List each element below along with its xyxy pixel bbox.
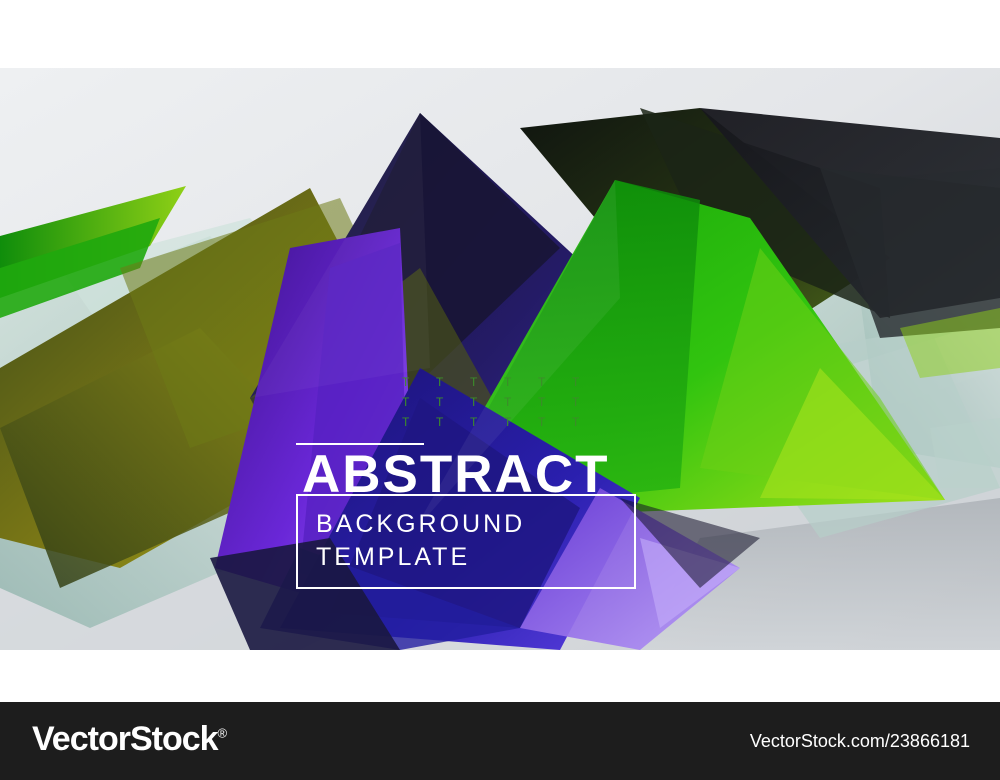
- brand-name: VectorStock: [32, 720, 218, 758]
- dot-glyph: T: [538, 378, 547, 387]
- dot-glyph: T: [572, 378, 581, 387]
- dot-glyph: T: [470, 378, 479, 387]
- dot-glyph: T: [470, 418, 479, 427]
- dot-glyph: T: [504, 378, 513, 387]
- dot-pattern: T T T T T T T T T T T T T T T T T T: [402, 368, 592, 428]
- dot-glyph: T: [402, 398, 411, 407]
- abstract-artwork: T T T T T T T T T T T T T T T T T T ABST: [0, 68, 1000, 650]
- bottom-white-margin: [0, 650, 1000, 702]
- vectorstock-logo: VectorStock®: [32, 720, 227, 759]
- screenshot-root: T T T T T T T T T T T T T T T T T T ABST: [0, 0, 1000, 780]
- dot-glyph: T: [436, 378, 445, 387]
- dot-glyph: T: [504, 418, 513, 427]
- footer-bar: VectorStock® VectorStock.com/23866181: [0, 702, 1000, 780]
- dot-glyph: T: [572, 398, 581, 407]
- dot-glyph: T: [572, 418, 581, 427]
- dot-glyph: T: [538, 418, 547, 427]
- top-white-margin: [0, 0, 1000, 68]
- vector-id-label: VectorStock.com/23866181: [750, 731, 970, 752]
- dot-glyph: T: [402, 418, 411, 427]
- dot-glyph: T: [436, 418, 445, 427]
- artwork-subtitle: BACKGROUND TEMPLATE: [316, 508, 525, 574]
- dot-glyph: T: [470, 398, 479, 407]
- dot-glyph: T: [436, 398, 445, 407]
- dot-glyph: T: [504, 398, 513, 407]
- dot-glyph: T: [538, 398, 547, 407]
- registered-mark: ®: [218, 726, 228, 741]
- dot-glyph: T: [402, 378, 411, 387]
- artwork-subtitle-line2: TEMPLATE: [316, 541, 525, 574]
- artwork-subtitle-line1: BACKGROUND: [316, 508, 525, 541]
